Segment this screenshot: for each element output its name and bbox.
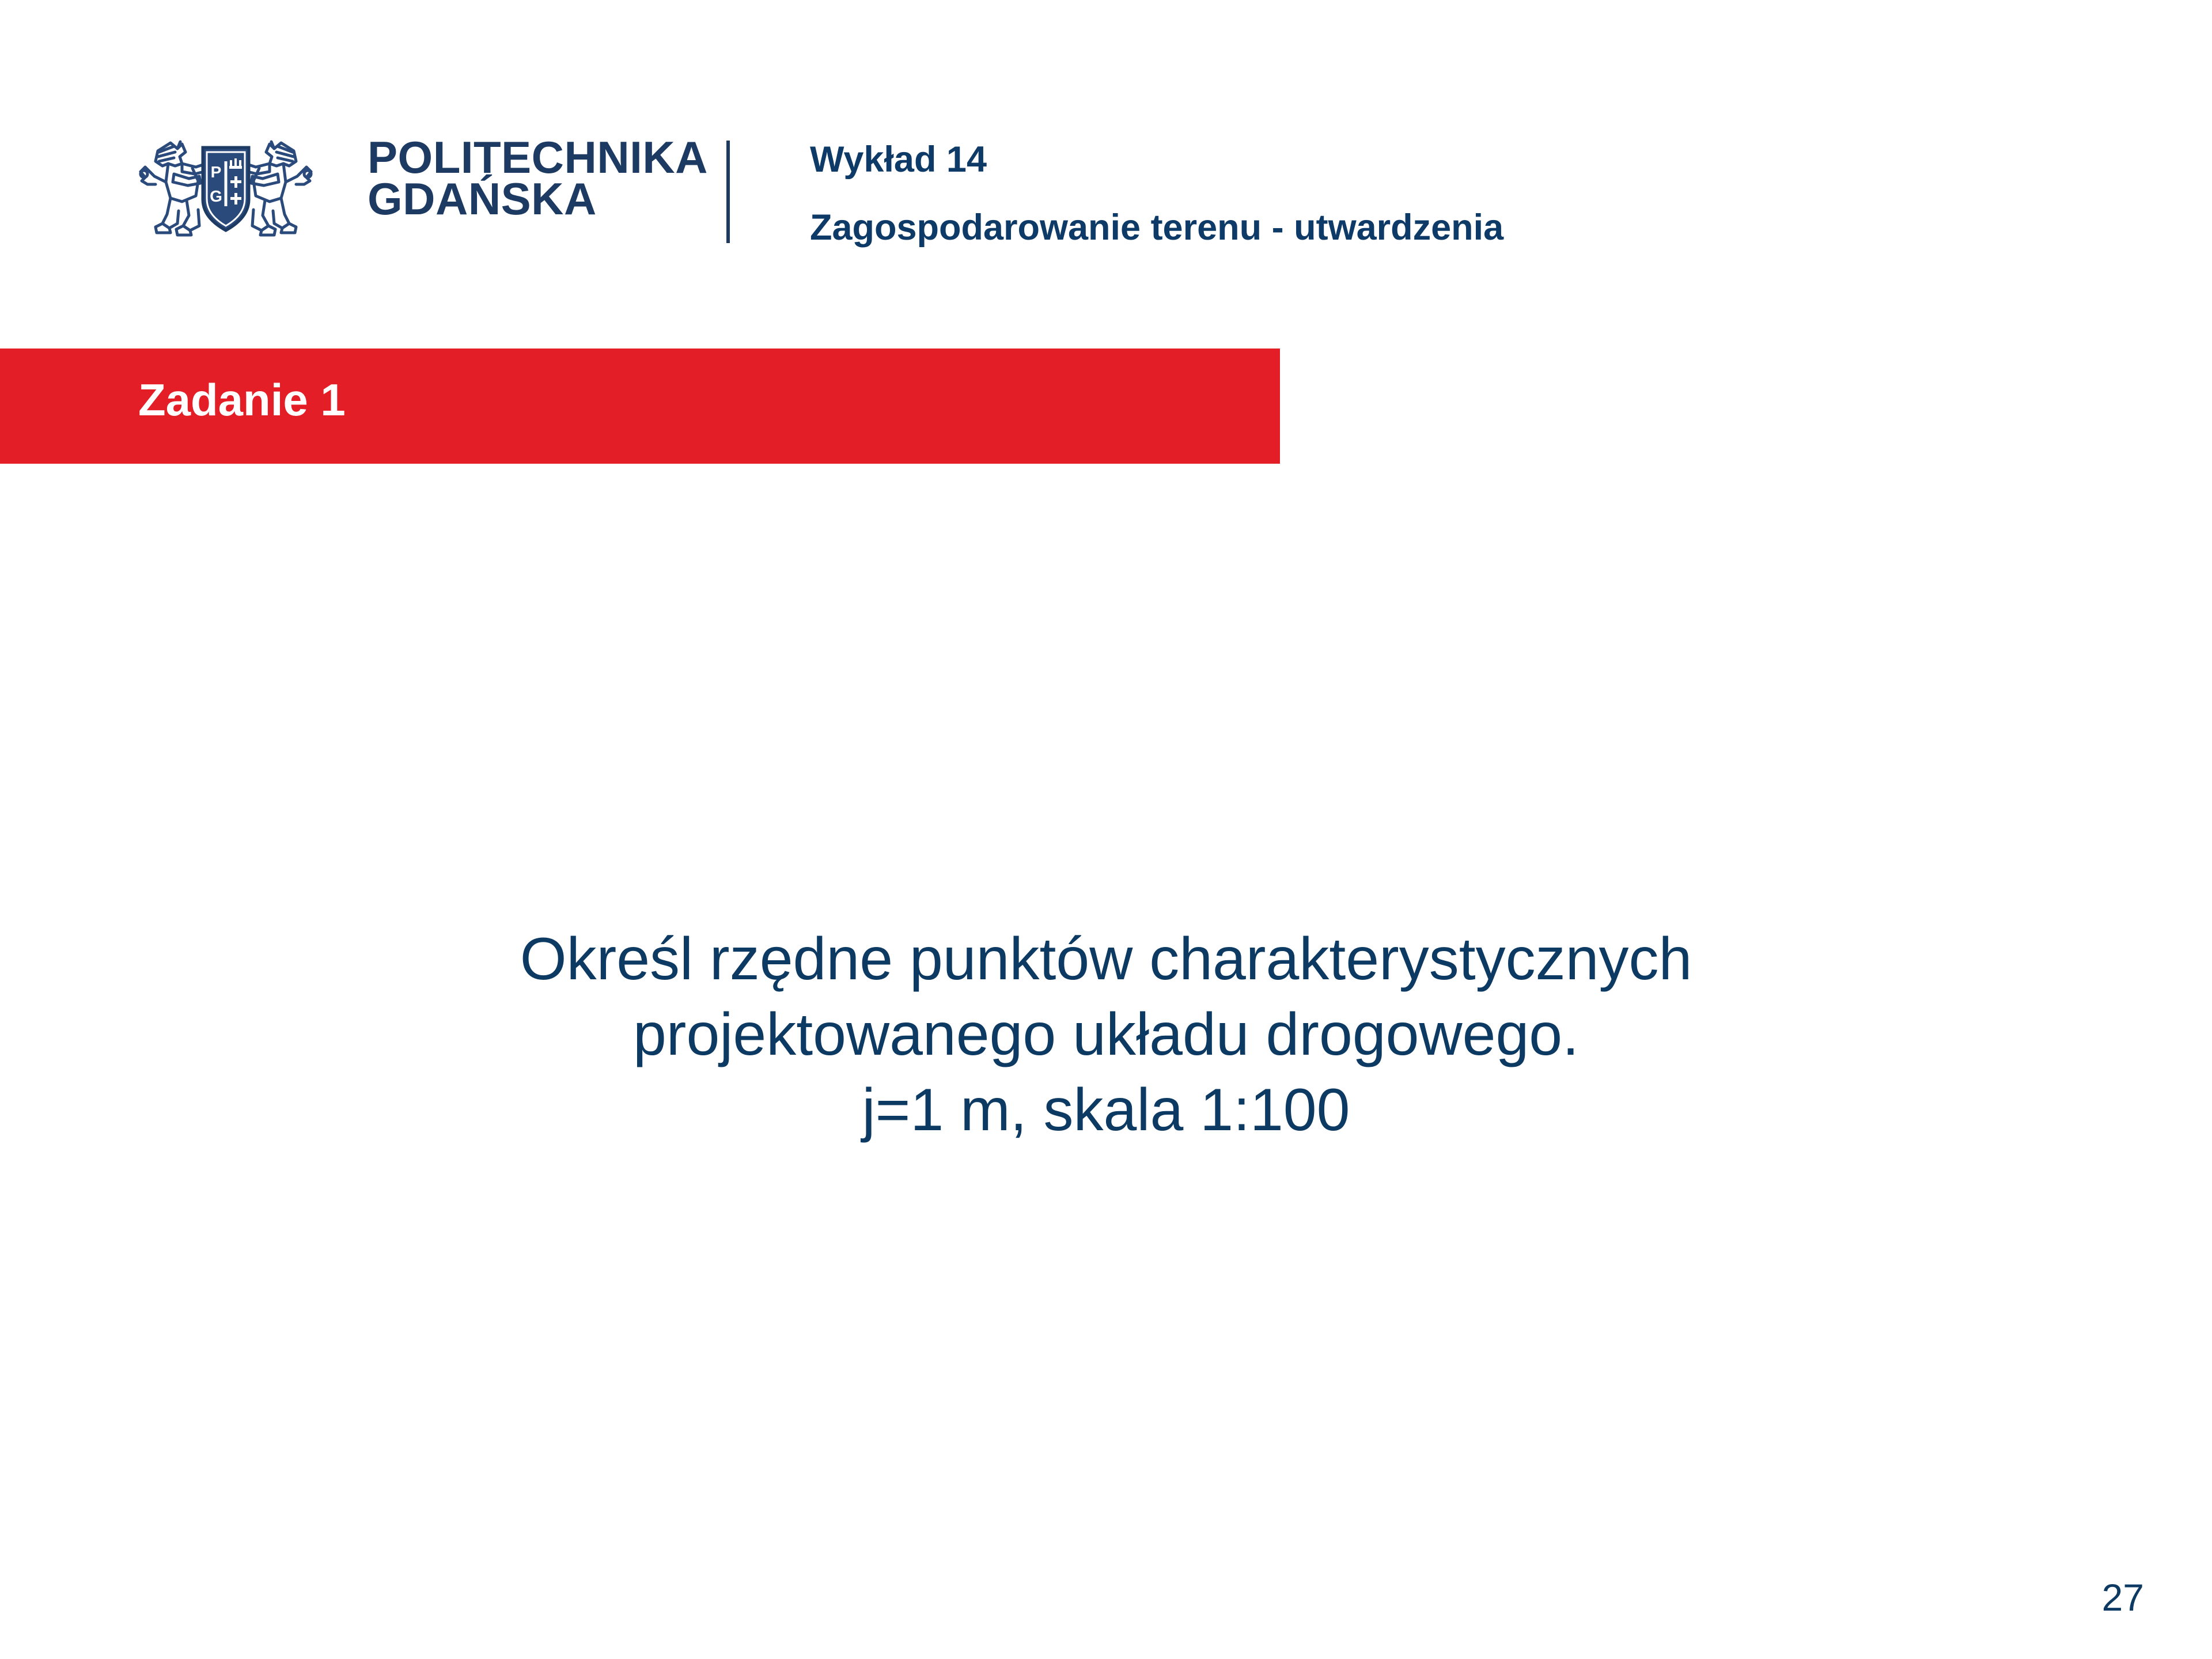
task-description: Określ rzędne punktów charakterystycznyc… [0, 922, 2212, 1148]
lecture-subtitle: Zagospodarowanie terenu - utwardzenia [810, 210, 2077, 246]
slide-header: P G POLITECHNIKA GDAŃSKA Wykład 14 [0, 0, 2212, 300]
lecture-title-block: Wykład 14 Zagospodarowanie terenu - utwa… [810, 142, 2077, 246]
task-line-1: Określ rzędne punktów charakterystycznyc… [0, 922, 2212, 997]
wordmark-line-2: GDAŃSKA [368, 179, 713, 220]
task-line-2: projektowanego układu drogowego. [0, 997, 2212, 1073]
page-number: 27 [2102, 1578, 2144, 1616]
section-banner-label: Zadanie 1 [138, 377, 346, 422]
task-line-3: j=1 m, skala 1:100 [0, 1073, 2212, 1148]
university-wordmark: POLITECHNIKA GDAŃSKA [368, 137, 713, 220]
lecture-title: Wykład 14 [810, 142, 2077, 178]
svg-text:P: P [211, 163, 222, 181]
section-banner: Zadanie 1 [0, 349, 1280, 464]
header-vertical-divider [726, 141, 730, 243]
pg-crest-icon: P G [122, 131, 329, 247]
svg-text:G: G [210, 187, 222, 205]
wordmark-line-1: POLITECHNIKA [368, 137, 713, 179]
